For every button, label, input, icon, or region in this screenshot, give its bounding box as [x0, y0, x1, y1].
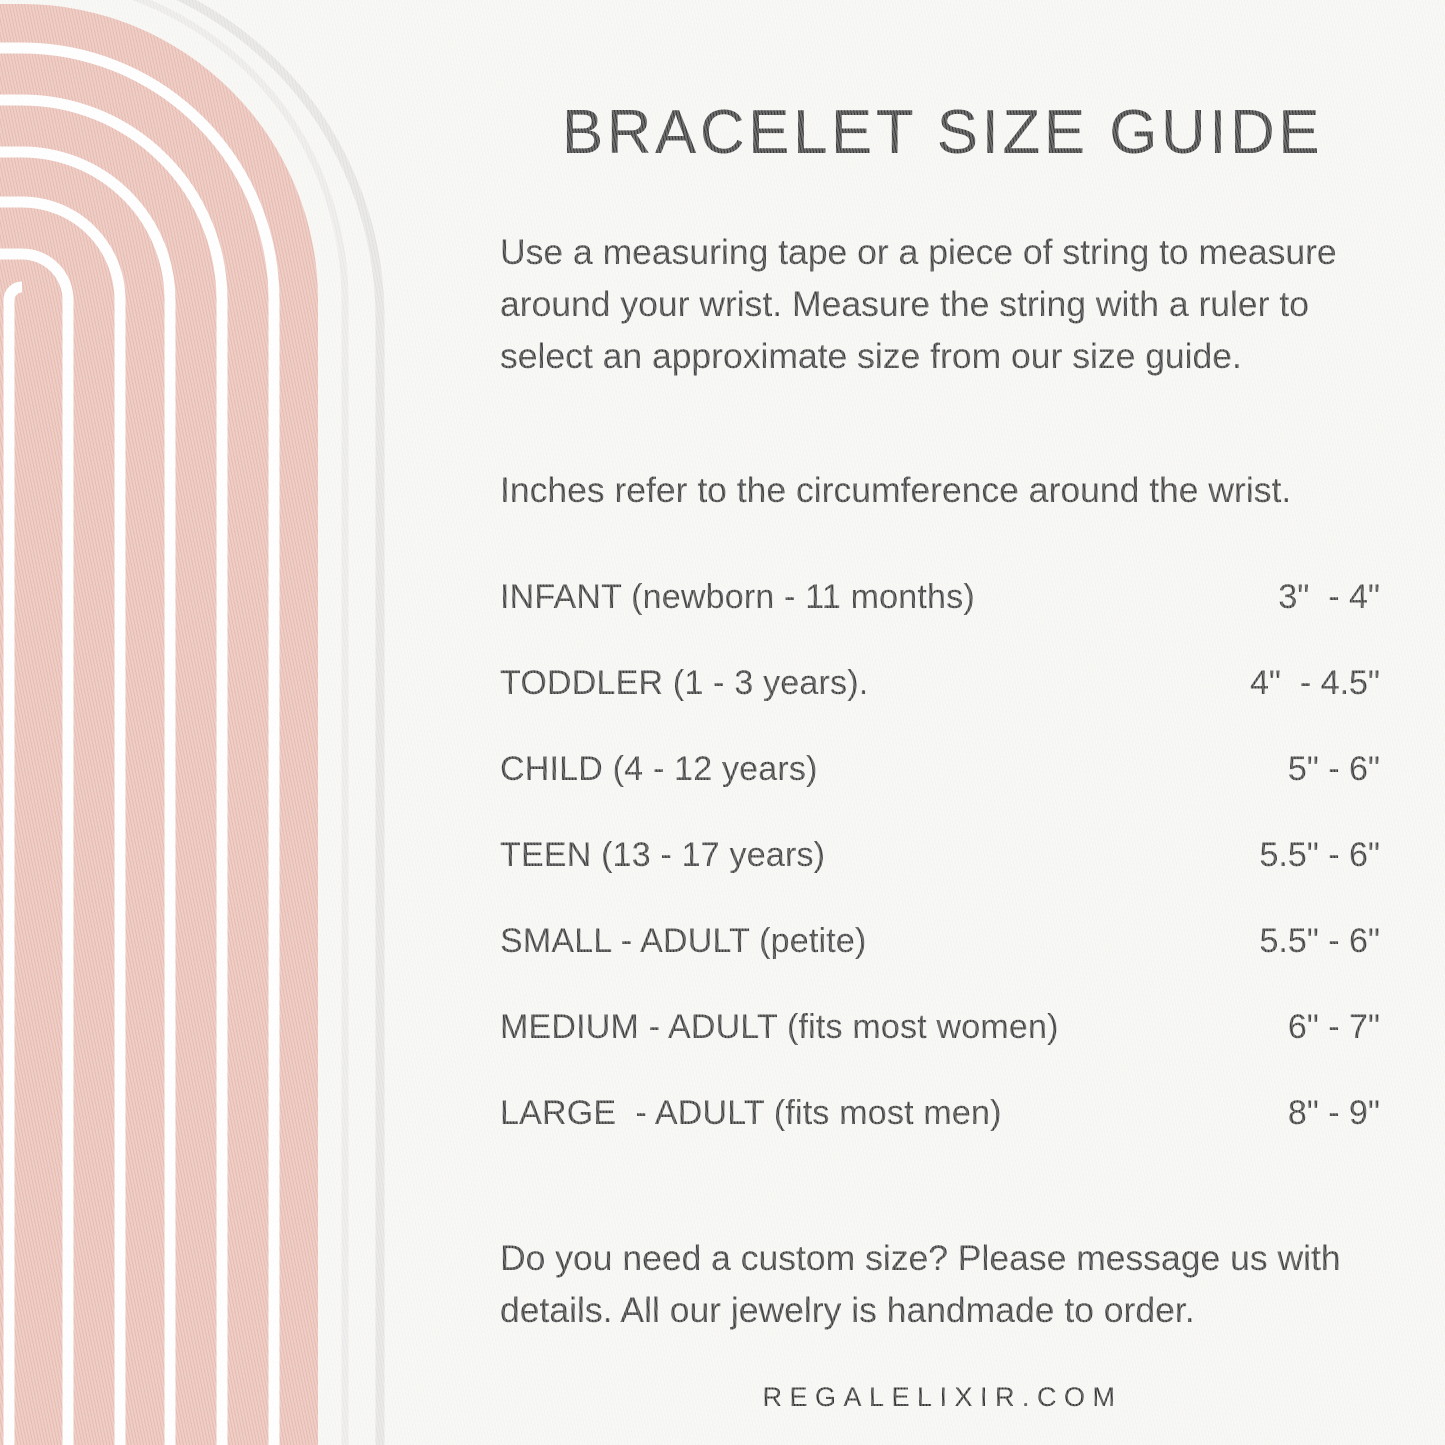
content-column: BRACELET SIZE GUIDE Use a measuring tape…: [440, 0, 1445, 1445]
table-row: SMALL - ADULT (petite) 5.5" - 6": [500, 922, 1380, 1008]
size-value: 5" - 6": [1288, 750, 1380, 789]
bracelet-size-guide-poster: BRACELET SIZE GUIDE Use a measuring tape…: [0, 0, 1445, 1445]
size-value: 8" - 9": [1288, 1094, 1380, 1133]
size-label: MEDIUM - ADULT (fits most women): [500, 1008, 1059, 1047]
size-value: 3" - 4": [1278, 578, 1380, 617]
table-row: INFANT (newborn - 11 months) 3" - 4": [500, 578, 1380, 664]
size-table: INFANT (newborn - 11 months) 3" - 4" TOD…: [500, 578, 1380, 1180]
size-label: TEEN (13 - 17 years): [500, 836, 825, 875]
table-row: MEDIUM - ADULT (fits most women) 6" - 7": [500, 1008, 1380, 1094]
inches-note-paragraph: Inches refer to the circumference around…: [500, 464, 1380, 516]
size-value: 4" - 4.5": [1250, 664, 1380, 703]
size-label: CHILD (4 - 12 years): [500, 750, 818, 789]
table-row: TODDLER (1 - 3 years). 4" - 4.5": [500, 664, 1380, 750]
page-title: BRACELET SIZE GUIDE: [440, 97, 1445, 168]
table-row: TEEN (13 - 17 years) 5.5" - 6": [500, 836, 1380, 922]
website-footer: REGALELIXIR.COM: [440, 1382, 1445, 1413]
custom-size-paragraph: Do you need a custom size? Please messag…: [500, 1232, 1380, 1336]
size-label: SMALL - ADULT (petite): [500, 922, 867, 961]
rainbow-arch-graphic: [0, 0, 440, 1445]
table-row: CHILD (4 - 12 years) 5" - 6": [500, 750, 1380, 836]
size-label: INFANT (newborn - 11 months): [500, 578, 975, 617]
table-row: LARGE - ADULT (fits most men) 8" - 9": [500, 1094, 1380, 1180]
size-value: 5.5" - 6": [1259, 836, 1380, 875]
size-label: TODDLER (1 - 3 years).: [500, 664, 868, 703]
size-label: LARGE - ADULT (fits most men): [500, 1094, 1002, 1133]
size-value: 6" - 7": [1288, 1008, 1380, 1047]
intro-paragraph: Use a measuring tape or a piece of strin…: [500, 226, 1380, 382]
size-value: 5.5" - 6": [1259, 922, 1380, 961]
